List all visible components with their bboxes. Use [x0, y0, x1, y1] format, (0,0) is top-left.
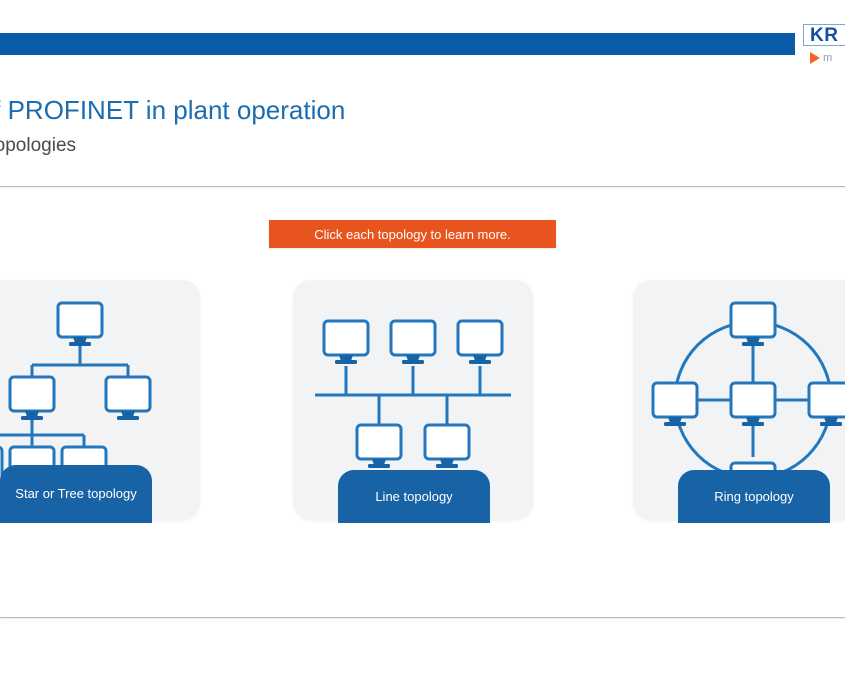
topology-card-label-star[interactable]: Star or Tree topology [0, 465, 152, 523]
header-blue-bar [0, 33, 795, 55]
logo-box: KR [803, 24, 845, 46]
topology-card-label-line[interactable]: Line topology [338, 470, 490, 523]
logo-tagline: m [803, 51, 845, 65]
instruction-banner: Click each topology to learn more. [269, 220, 556, 248]
brand-logo: KR m [803, 24, 845, 65]
page-subtitle: work topologies [0, 135, 644, 158]
divider-top [0, 186, 845, 187]
logo-wordmark: KR [810, 26, 838, 45]
instruction-banner-text: Click each topology to learn more. [314, 227, 511, 242]
divider-bottom [0, 617, 845, 618]
title-block: es of PROFINET in plant operation work t… [0, 96, 644, 158]
monitor-nodes [0, 303, 150, 490]
topology-card-label-ring[interactable]: Ring topology [678, 470, 830, 523]
logo-tagline-text: m [823, 52, 832, 64]
play-arrow-icon [810, 52, 820, 64]
page-title: es of PROFINET in plant operation [0, 96, 644, 126]
